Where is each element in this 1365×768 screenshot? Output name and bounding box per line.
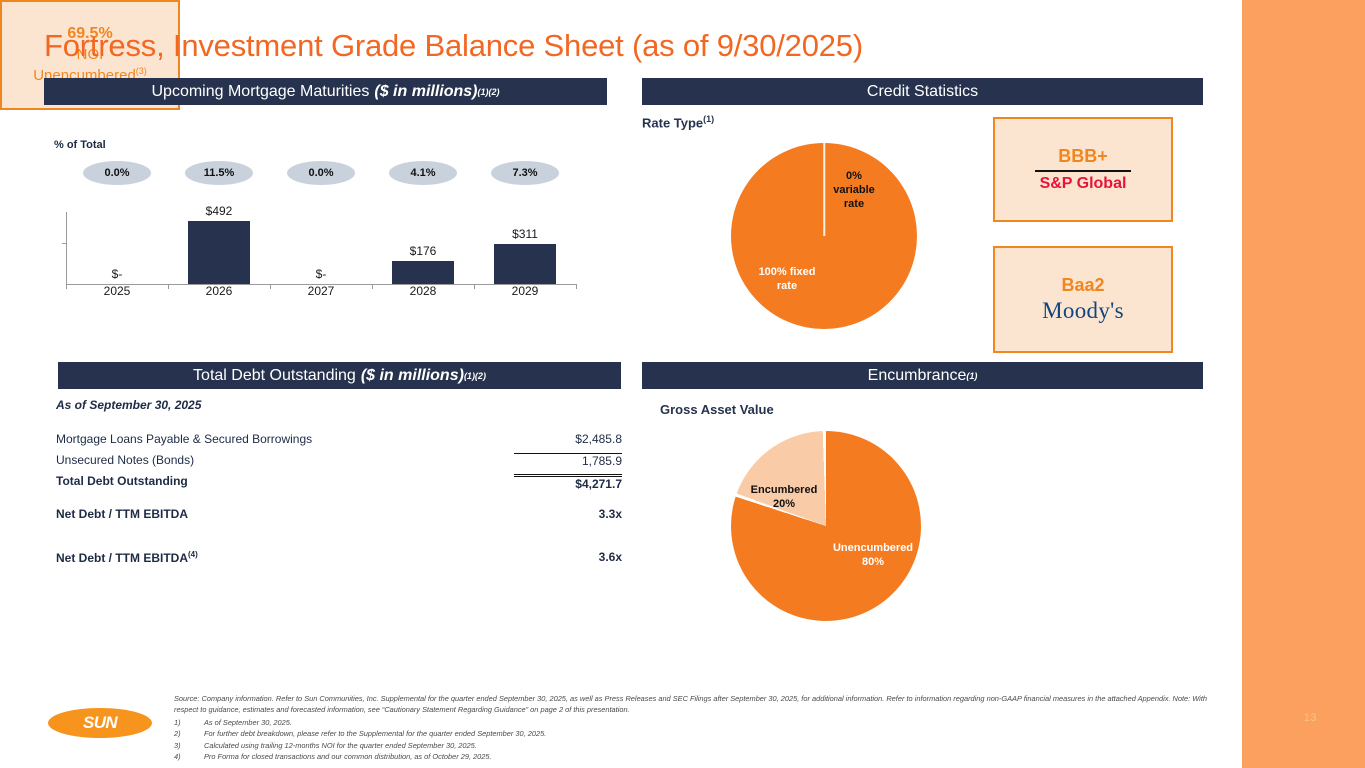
pie-slice-label-variable-rate: 0% variable rate [828,170,880,211]
debt-metric-row: Net Debt / TTM EBITDA3.3x [56,507,622,528]
bar-column: $311 [474,212,576,284]
noi-footnote-ref: (3) [136,66,147,76]
debt-row-value: 1,785.9 [514,453,622,468]
pct-of-total-badge: 0.0% [287,161,355,185]
footnote-item: 4)Pro Forma for closed transactions and … [174,751,1229,762]
debt-row-label: Total Debt Outstanding [56,474,188,488]
moodys-agency-name: Moody's [1042,298,1124,324]
sp-divider-rule [1035,170,1131,172]
debt-metric-value: 3.6x [599,550,622,564]
footnote-text: As of September 30, 2025. [204,718,292,727]
footnote-text: For further debt breakdown, please refer… [204,729,546,738]
debt-row-value: $4,271.7 [514,476,622,491]
debt-header-units: ($ in millions) [361,367,464,385]
x-axis-category-label: 2028 [372,284,474,298]
page-number: 13 [1304,712,1317,724]
credit-header-text: Credit Statistics [867,83,978,101]
footnote-number: 1) [174,717,181,728]
bar-column: $- [66,212,168,284]
spacer [56,495,622,507]
pct-of-total-badge: 7.3% [491,161,559,185]
bar-rect [392,261,454,284]
pct-of-total-row: 0.0%11.5%0.0%4.1%7.3% [66,161,586,185]
debt-row-value: $2,485.8 [514,432,622,446]
sp-rating-grade: BBB+ [1058,146,1108,167]
debt-table-row: Total Debt Outstanding$4,271.7 [56,474,622,495]
credit-rating-card-moodys: Baa2 Moody's [993,246,1173,353]
debt-row-value-cell: $2,485.8 [514,432,622,446]
x-axis-category-label: 2027 [270,284,372,298]
x-axis-category-label: 2026 [168,284,270,298]
footnote-item: 2)For further debt breakdown, please ref… [174,728,1229,739]
encumbrance-header-text: Encumbrance [868,367,967,385]
footnote-text: Calculated using trailing 12-months NOI … [204,741,477,750]
rate-type-title: Rate Type(1) [642,114,714,130]
pie-slice-label-encumbered: Encumbered 20% [745,484,823,512]
x-axis-tick [576,284,577,289]
debt-metric-row: Net Debt / TTM EBITDA(4)3.6x [56,550,622,571]
sp-agency-name: S&P Global [1040,175,1127,193]
right-sidebar-band [1242,0,1365,768]
mortgage-header-footnote-ref: (1)(2) [478,87,500,97]
debt-metric-label: Net Debt / TTM EBITDA [56,507,188,521]
section-header-credit-statistics: Credit Statistics [642,78,1203,105]
rate-type-pie-chart [731,143,917,329]
credit-rating-card-sp: BBB+ S&P Global [993,117,1173,222]
encumbered-pct: 20% [773,498,795,510]
debt-as-of-date: As of September 30, 2025 [56,398,201,412]
pct-of-total-label: % of Total [54,139,106,151]
total-debt-table: Mortgage Loans Payable & Secured Borrowi… [56,432,622,571]
footnote-list: 1)As of September 30, 2025.2)For further… [174,717,1229,763]
mortgage-header-text: Upcoming Mortgage Maturities [152,83,370,101]
fixed-rate-word: rate [777,280,797,292]
debt-metric-label: Net Debt / TTM EBITDA(4) [56,550,198,565]
bar-value-label: $492 [168,204,270,218]
pie-slice-label-unencumbered: Unencumbered 80% [831,542,915,570]
unencumbered-word: Unencumbered [833,542,913,554]
debt-table-row: Mortgage Loans Payable & Secured Borrowi… [56,432,622,453]
encumbrance-header-footnote-ref: (1) [966,371,977,381]
fixed-pct: 100% fixed [759,266,816,278]
encumbered-word: Encumbered [751,484,818,496]
footnote-number: 3) [174,740,181,751]
variable-word: variable [833,184,875,196]
bar-column: $176 [372,212,474,284]
section-header-mortgage-maturities: Upcoming Mortgage Maturities ($ in milli… [44,78,607,105]
bar-column: $492 [168,212,270,284]
x-axis-category-label: 2029 [474,284,576,298]
bar-value-label: $- [66,267,168,281]
pie-divider-line [823,143,825,236]
pct-of-total-badge: 4.1% [389,161,457,185]
bar-value-label: $- [270,267,372,281]
debt-metric-footnote-ref: (4) [188,550,198,559]
unencumbered-pct: 80% [862,556,884,568]
bar-value-label: $176 [372,244,474,258]
debt-metric-value: 3.3x [599,507,622,521]
debt-header-footnote-ref: (1)(2) [464,371,486,381]
sun-communities-logo: SUN [48,708,152,738]
bar-rect [188,221,250,284]
x-axis-category-label: 2025 [66,284,168,298]
footnote-number: 2) [174,728,181,739]
section-header-total-debt: Total Debt Outstanding ($ in millions)(1… [58,362,621,389]
footnote-number: 4) [174,751,181,762]
debt-table-row: Unsecured Notes (Bonds)1,785.9 [56,453,622,474]
pie-slice-label-fixed-rate: 100% fixed rate [750,266,824,294]
variable-rate-word: rate [844,198,864,210]
pct-of-total-badge: 0.0% [83,161,151,185]
footnote-item: 3)Calculated using trailing 12-months NO… [174,740,1229,751]
debt-row-label: Mortgage Loans Payable & Secured Borrowi… [56,432,312,446]
encumbrance-pie-chart [731,431,921,621]
moodys-rating-grade: Baa2 [1061,275,1104,296]
section-header-encumbrance: Encumbrance(1) [642,362,1203,389]
gross-asset-value-title: Gross Asset Value [660,402,774,417]
bar-rect [494,244,556,284]
variable-pct: 0% [846,170,862,182]
bar-value-label: $311 [474,227,576,241]
bar-column: $- [270,212,372,284]
spacer [56,528,622,550]
debt-header-text: Total Debt Outstanding [193,367,356,385]
page-title: Fortress, Investment Grade Balance Sheet… [44,28,863,64]
rate-type-title-text: Rate Type [642,115,703,130]
mortgage-header-units: ($ in millions) [374,83,477,101]
logo-text: SUN [83,713,117,733]
debt-row-label: Unsecured Notes (Bonds) [56,453,194,467]
mortgage-maturities-bar-chart: $-$492$-$176$311 [66,212,576,294]
rate-type-footnote-ref: (1) [703,114,714,124]
source-note: Source: Company information. Refer to Su… [174,694,1229,715]
debt-row-value-cell: $4,271.7 [514,474,622,491]
footnote-item: 1)As of September 30, 2025. [174,717,1229,728]
footnote-text: Pro Forma for closed transactions and ou… [204,752,492,761]
debt-row-value-cell: 1,785.9 [514,453,622,468]
pct-of-total-badge: 11.5% [185,161,253,185]
